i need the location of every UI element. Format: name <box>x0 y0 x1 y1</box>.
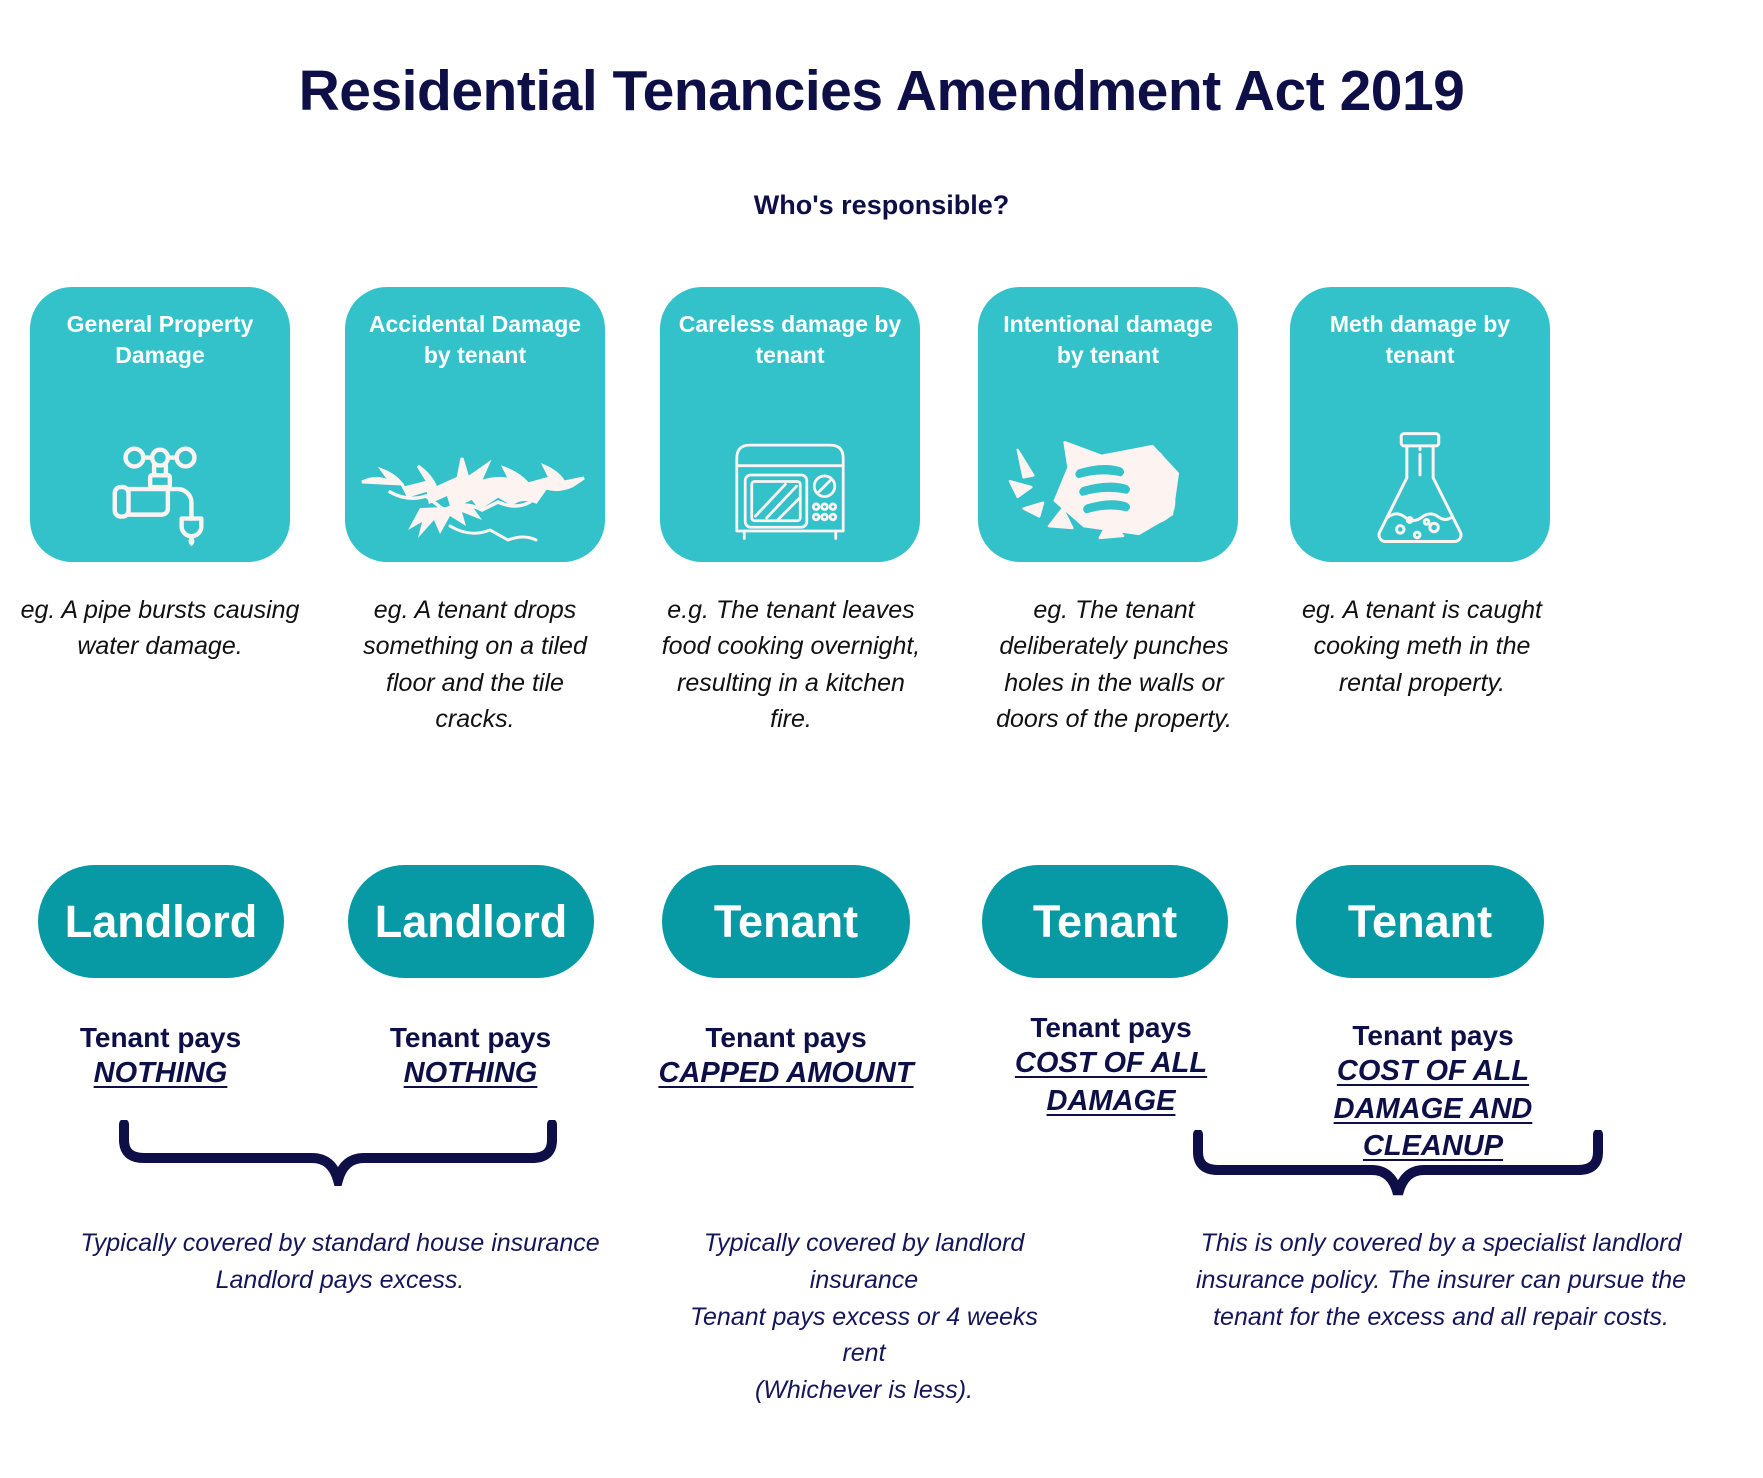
card-title: General Property Damage <box>30 309 290 371</box>
footnote-capped-column: Typically covered by landlord insurance … <box>668 1225 1060 1409</box>
page-title: Residential Tenancies Amendment Act 2019 <box>0 58 1763 124</box>
microwave-oven-icon <box>660 410 920 550</box>
tenant-pays-block-3: Tenant pays CAPPED AMOUNT <box>650 1020 922 1093</box>
card-intentional-damage[interactable]: Intentional damage by tenant <box>978 287 1238 562</box>
tenant-pays-block-2: Tenant pays NOTHING <box>338 1020 603 1093</box>
responsible-pill-5[interactable]: Tenant <box>1296 865 1544 978</box>
responsible-pill-4[interactable]: Tenant <box>982 865 1228 978</box>
tenant-pays-amount: NOTHING <box>28 1055 293 1093</box>
footnote-landlord-columns: Typically covered by standard house insu… <box>40 1225 640 1299</box>
damage-type-card-row: General Property Damage <box>0 287 1763 562</box>
card-title: Meth damage by tenant <box>1290 309 1550 371</box>
card-accidental-damage[interactable]: Accidental Damage by tenant <box>345 287 605 562</box>
card-title: Accidental Damage by tenant <box>345 309 605 371</box>
fist-punch-wall-icon <box>978 410 1238 550</box>
footnote-specialist-columns: This is only covered by a specialist lan… <box>1195 1225 1687 1335</box>
example-caption: eg. The tenant deliberately punches hole… <box>980 592 1248 737</box>
card-title: Intentional damage by tenant <box>978 309 1238 371</box>
example-caption: e.g. The tenant leaves food cooking over… <box>660 592 922 737</box>
example-caption: eg. A pipe bursts causing water damage. <box>12 592 308 665</box>
example-caption: eg. A tenant is caught cooking meth in t… <box>1288 592 1556 701</box>
conical-flask-icon <box>1290 410 1550 550</box>
tenant-pays-lead: Tenant pays <box>338 1020 603 1055</box>
card-meth-damage[interactable]: Meth damage by tenant <box>1290 287 1550 562</box>
tenant-pays-lead: Tenant pays <box>28 1020 293 1055</box>
cracked-tile-icon <box>345 410 605 550</box>
page-subtitle: Who's responsible? <box>0 190 1763 221</box>
responsible-pill-1[interactable]: Landlord <box>38 865 284 978</box>
faucet-tap-icon <box>30 410 290 550</box>
tenant-pays-amount: COST OF ALL DAMAGE <box>1000 1045 1222 1120</box>
tenant-pays-lead: Tenant pays <box>1000 1010 1222 1045</box>
tenant-pays-amount: NOTHING <box>338 1055 603 1093</box>
tenant-pays-block-1: Tenant pays NOTHING <box>28 1020 293 1093</box>
responsible-pill-3[interactable]: Tenant <box>662 865 910 978</box>
infographic-page: Residential Tenancies Amendment Act 2019… <box>0 0 1763 1478</box>
responsible-party-row: Landlord Landlord Tenant Tenant Tenant <box>0 865 1763 985</box>
tenant-pays-block-4: Tenant pays COST OF ALL DAMAGE <box>1000 1010 1222 1120</box>
tenant-pays-lead: Tenant pays <box>650 1020 922 1055</box>
card-general-property-damage[interactable]: General Property Damage <box>30 287 290 562</box>
card-title: Careless damage by tenant <box>660 309 920 371</box>
tenant-pays-amount: CAPPED AMOUNT <box>650 1055 922 1093</box>
example-caption-row: eg. A pipe bursts causing water damage. … <box>0 592 1763 762</box>
tenant-pays-lead: Tenant pays <box>1268 1018 1598 1053</box>
example-caption: eg. A tenant drops something on a tiled … <box>355 592 595 737</box>
brace-columns-1-2 <box>118 1120 558 1191</box>
responsible-pill-2[interactable]: Landlord <box>348 865 594 978</box>
brace-columns-4-5 <box>1192 1130 1608 1205</box>
card-careless-damage[interactable]: Careless damage by tenant <box>660 287 920 562</box>
